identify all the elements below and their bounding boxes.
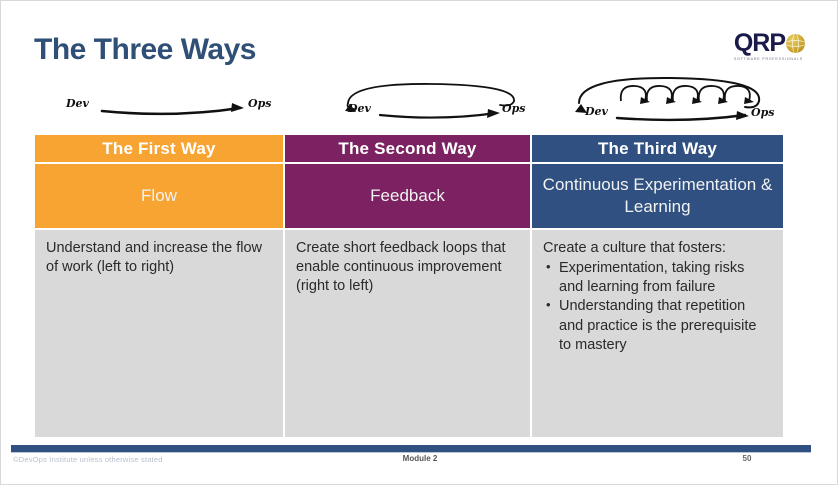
table-body-first-way: Understand and increase the flow of work… <box>34 229 284 438</box>
continuous-learning-diagram: Dev Ops <box>559 73 784 131</box>
diagram2-from-label: Dev <box>347 102 372 115</box>
table-body-second-way: Create short feedback loops that enable … <box>284 229 531 438</box>
table-subheader-first-way: Flow <box>34 163 284 229</box>
list-item: Experimentation, taking risks and learni… <box>559 259 772 297</box>
logo-tagline: SOFTWARE PROFESSIONALS <box>734 57 803 61</box>
qrp-logo: QRP SOFTWARE PROFESSIONALS <box>734 31 805 61</box>
body-intro-first-way: Understand and increase the flow of work… <box>46 239 272 277</box>
footer-module: Module 2 <box>1 454 838 463</box>
body-intro-second-way: Create short feedback loops that enable … <box>296 239 519 296</box>
table-subheader-third-way: Continuous Experimentation & Learning <box>531 163 784 229</box>
diagram1-to-label: Ops <box>248 97 271 110</box>
diagram3-to-label: Ops <box>751 106 774 119</box>
list-item: Understanding that repetition and practi… <box>559 297 772 354</box>
globe-icon <box>786 34 805 53</box>
diagram-strip: Dev Ops Dev Ops Dev <box>34 73 784 131</box>
three-ways-table: The First Way The Second Way The Third W… <box>34 134 784 438</box>
footer-page-number: 50 <box>727 454 767 463</box>
slide-canvas: The Three Ways QRP SOFTWARE PROFESSIONAL… <box>0 0 838 485</box>
third-way-bullet-list: Experimentation, taking risks and learni… <box>543 259 772 355</box>
logo-row: QRP <box>734 31 805 56</box>
table-subheader-second-way: Feedback <box>284 163 531 229</box>
table-header-second-way: The Second Way <box>284 134 531 163</box>
one-way-flow-diagram: Dev Ops <box>64 73 284 131</box>
footer-divider <box>11 445 811 453</box>
page-title: The Three Ways <box>34 33 256 67</box>
table-header-third-way: The Third Way <box>531 134 784 163</box>
table-header-first-way: The First Way <box>34 134 284 163</box>
table-body-third-way: Create a culture that fosters: Experimen… <box>531 229 784 438</box>
diagram2-to-label: Ops <box>502 102 525 115</box>
diagram1-from-label: Dev <box>65 97 90 110</box>
logo-wordmark: QRP <box>734 31 785 56</box>
body-intro-third-way: Create a culture that fosters: <box>543 239 772 258</box>
feedback-loop-diagram: Dev Ops <box>324 73 539 131</box>
diagram3-from-label: Dev <box>584 105 609 118</box>
